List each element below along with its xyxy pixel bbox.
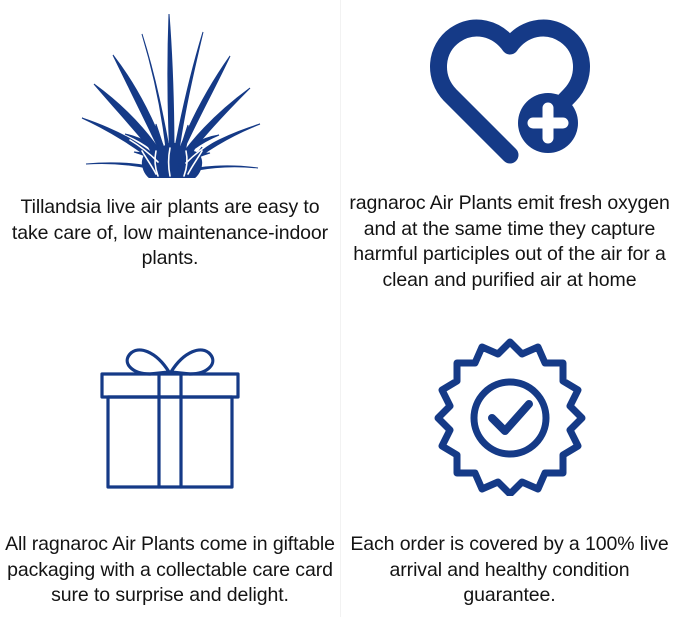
feature-cell-easy-care: Tillandsia live air plants are easy to t…	[0, 0, 340, 310]
feature-text-fresh-oxygen: ragnaroc Air Plants emit fresh oxygen an…	[340, 191, 679, 293]
gift-box-icon	[80, 331, 260, 501]
icon-container-gift-box	[0, 310, 340, 500]
icon-container-verified-badge	[340, 310, 679, 500]
feature-cell-giftable-packaging: All ragnaroc Air Plants come in giftable…	[0, 310, 340, 617]
verified-badge-icon	[430, 336, 590, 496]
feature-grid: Tillandsia live air plants are easy to t…	[0, 0, 679, 617]
air-plant-icon	[70, 8, 270, 178]
feature-cell-fresh-oxygen: ragnaroc Air Plants emit fresh oxygen an…	[340, 0, 679, 310]
heart-plus-icon	[425, 13, 595, 173]
feature-cell-live-arrival-guarantee: Each order is covered by a 100% live arr…	[340, 310, 679, 617]
feature-text-live-arrival-guarantee: Each order is covered by a 100% live arr…	[340, 532, 679, 609]
icon-container-air-plant	[0, 0, 340, 185]
feature-text-giftable-packaging: All ragnaroc Air Plants come in giftable…	[0, 532, 340, 609]
feature-text-easy-care: Tillandsia live air plants are easy to t…	[0, 195, 340, 272]
icon-container-heart-plus	[340, 0, 679, 185]
